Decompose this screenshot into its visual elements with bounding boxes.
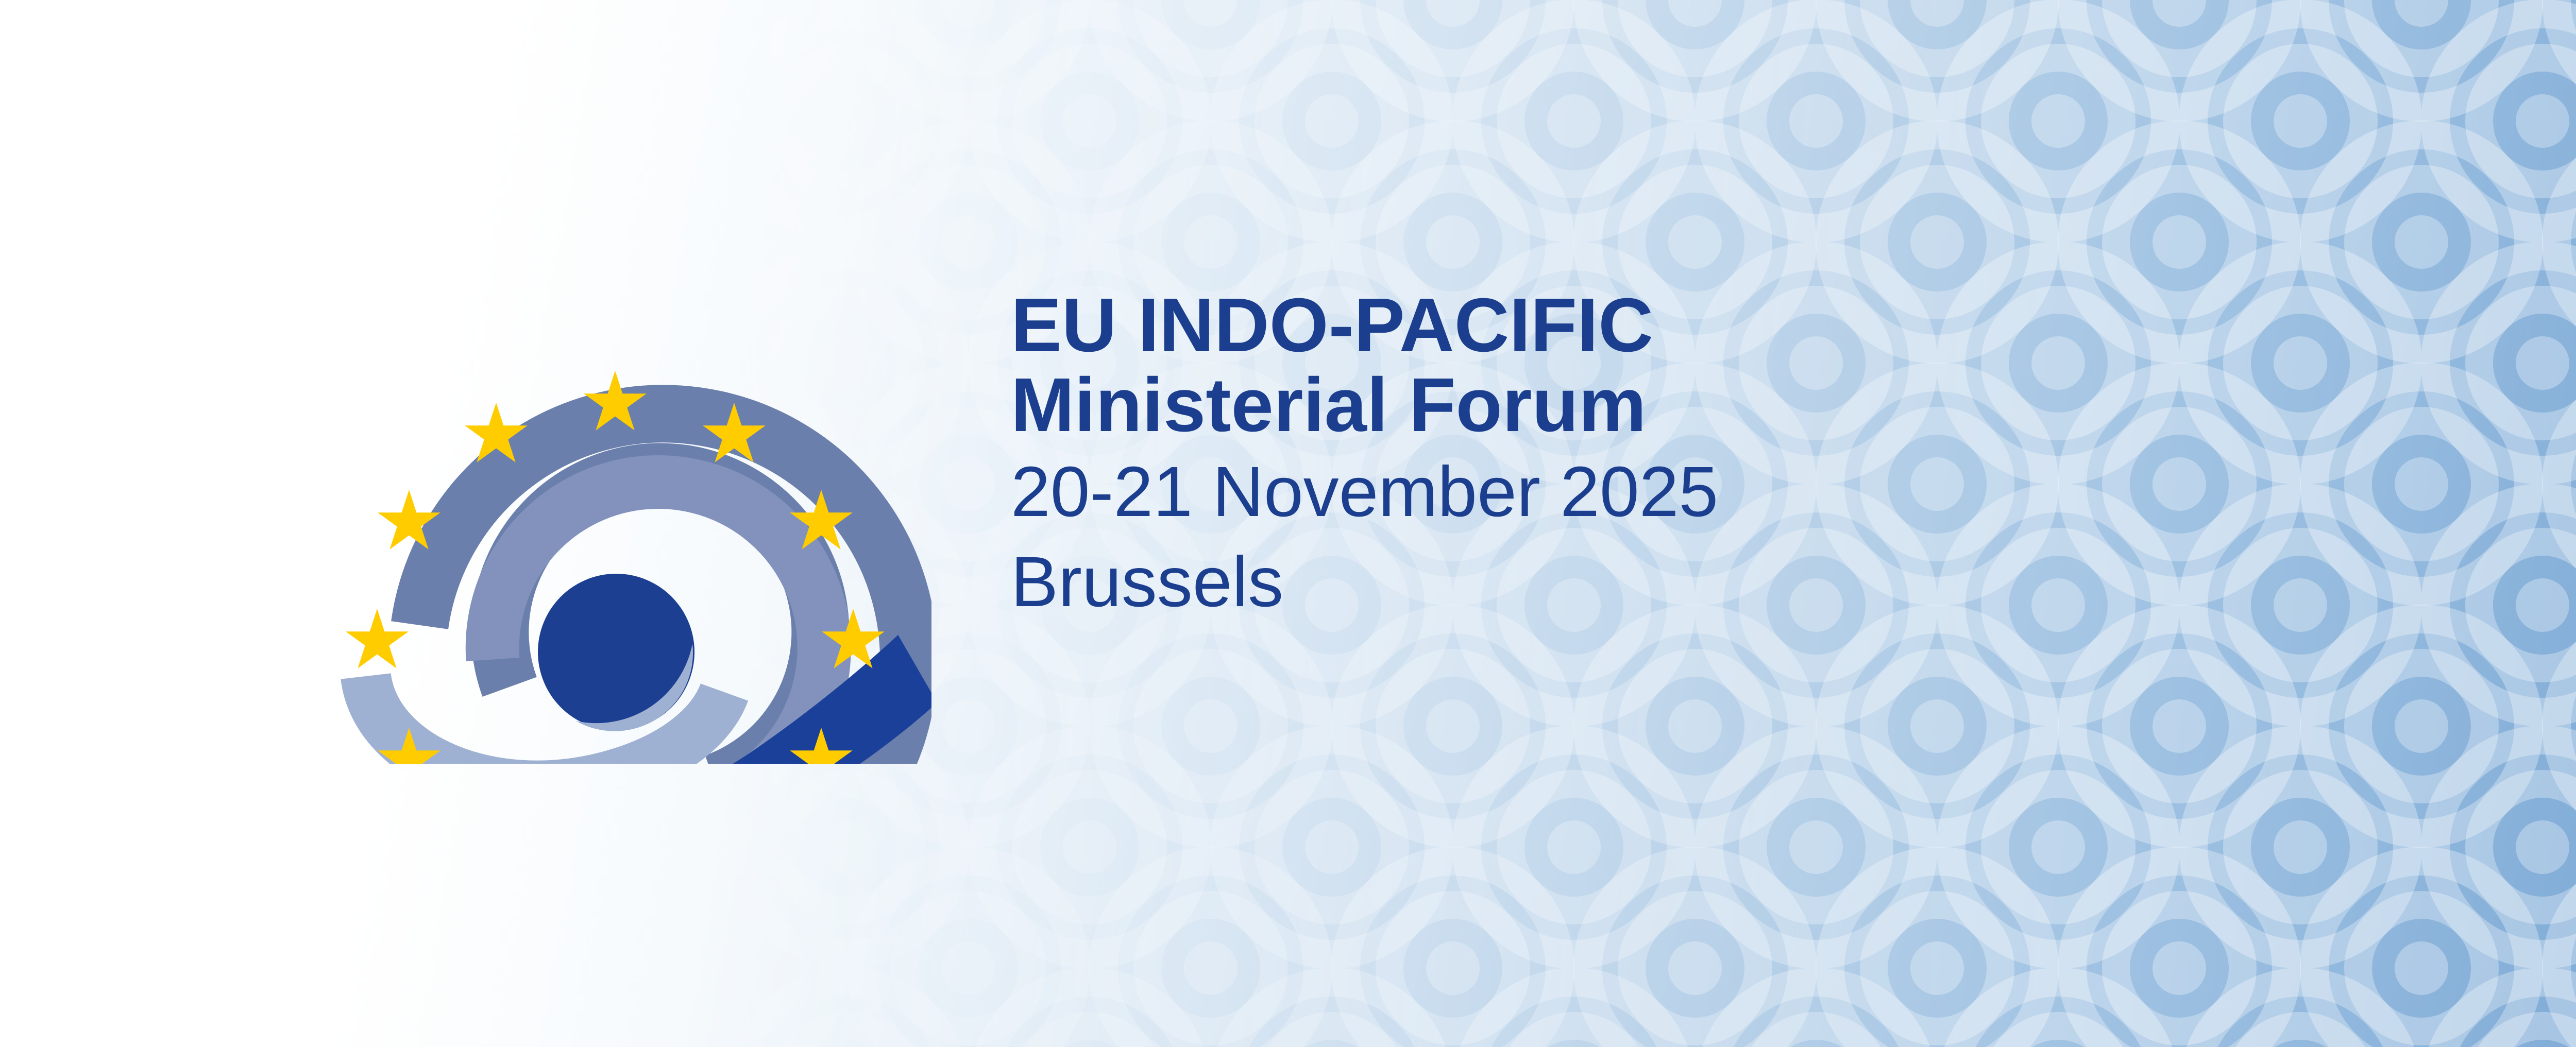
event-city: Brussels — [1011, 538, 2247, 626]
eu-indo-pacific-logo — [246, 262, 931, 764]
event-date: 20-21 November 2025 — [1011, 446, 2247, 538]
event-banner: EU INDO-PACIFIC Ministerial Forum 20-21 … — [0, 0, 2576, 1047]
event-title-line-1: EU INDO-PACIFIC — [1011, 286, 2247, 365]
event-title-line-2: Ministerial Forum — [1011, 365, 2247, 446]
event-text-block: EU INDO-PACIFIC Ministerial Forum 20-21 … — [1011, 286, 2247, 626]
spiral-graphic — [352, 382, 931, 764]
